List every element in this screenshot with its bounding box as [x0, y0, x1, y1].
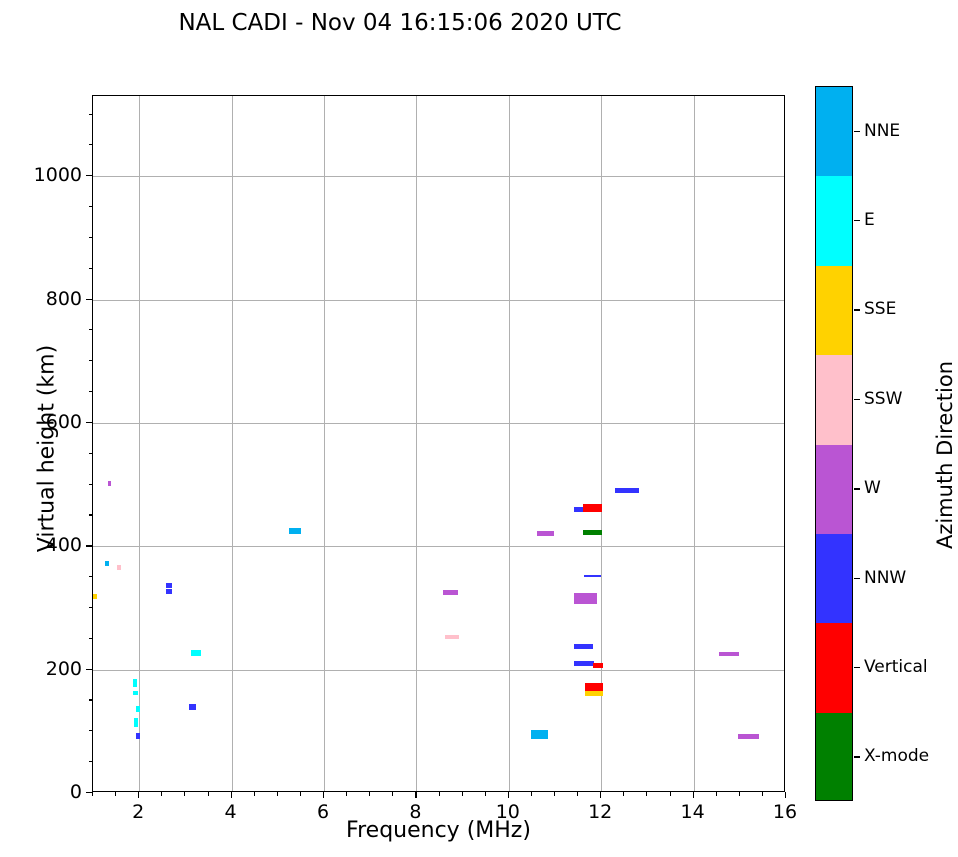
gridline-y-400: [93, 546, 784, 547]
data-marker: [136, 733, 140, 739]
y-tick: [86, 669, 92, 670]
plot-area: [92, 95, 785, 792]
colorbar-tick: [854, 488, 860, 489]
colorbar-title: Azimuth Direction: [933, 305, 957, 605]
colorbar-tick: [854, 220, 860, 221]
colorbar-segment-vertical: [816, 623, 852, 713]
y-tick: [89, 237, 93, 238]
x-tick: [300, 792, 301, 796]
y-tick: [89, 329, 93, 330]
colorbar-segment-nne: [816, 87, 852, 177]
y-tick: [86, 545, 92, 546]
data-marker: [445, 635, 459, 639]
gridline-x-2: [139, 96, 140, 791]
colorbar: [815, 86, 853, 801]
colorbar-tick: [854, 309, 860, 310]
data-marker: [615, 488, 639, 493]
x-tick: [115, 792, 116, 796]
x-tick: [508, 792, 509, 798]
data-marker: [584, 575, 602, 577]
x-tick: [600, 792, 601, 798]
data-marker: [443, 590, 458, 595]
y-tick: [89, 607, 93, 608]
y-tick: [89, 730, 93, 731]
data-marker: [136, 706, 140, 712]
y-tick: [89, 761, 93, 762]
x-tick: [415, 792, 416, 798]
data-marker: [191, 650, 200, 656]
colorbar-tick: [854, 756, 860, 757]
x-tick: [670, 792, 671, 796]
x-tick: [762, 792, 763, 796]
data-marker: [189, 704, 195, 710]
data-marker: [738, 734, 759, 739]
y-tick: [89, 360, 93, 361]
data-marker: [166, 583, 173, 588]
data-marker: [574, 661, 594, 666]
x-tick: [716, 792, 717, 796]
colorbar-segment-e: [816, 176, 852, 266]
data-marker: [719, 652, 739, 656]
y-tick: [86, 792, 92, 793]
data-marker: [583, 504, 602, 512]
data-marker: [289, 528, 301, 534]
colorbar-label-x-mode: X-mode: [864, 746, 929, 766]
data-marker: [531, 730, 549, 739]
data-marker: [583, 530, 602, 535]
y-tick: [89, 391, 93, 392]
data-marker: [133, 679, 138, 687]
data-marker: [574, 644, 592, 649]
colorbar-label-ssw: SSW: [864, 389, 902, 409]
colorbar-tick: [854, 667, 860, 668]
colorbar-segment-ssw: [816, 355, 852, 445]
y-axis-label: Virtual height (km): [35, 299, 60, 599]
colorbar-tick: [854, 131, 860, 132]
x-tick: [392, 792, 393, 796]
gridline-x-10: [509, 96, 510, 791]
x-tick: [231, 792, 232, 798]
colorbar-label-w: W: [864, 478, 881, 498]
y-tick: [86, 299, 92, 300]
x-tick: [462, 792, 463, 796]
y-tick: [89, 453, 93, 454]
y-tick: [89, 144, 93, 145]
gridline-x-14: [694, 96, 695, 791]
y-tick: [86, 422, 92, 423]
colorbar-segment-w: [816, 445, 852, 535]
colorbar-segment-sse: [816, 266, 852, 356]
plot-clip-region: [93, 96, 784, 791]
colorbar-label-nnw: NNW: [864, 568, 906, 588]
x-tick: [485, 792, 486, 796]
gridline-y-200: [93, 670, 784, 671]
x-tick: [208, 792, 209, 796]
figure-canvas: NAL CADI - Nov 04 16:15:06 2020 UTC 2468…: [0, 0, 958, 857]
y-tick: [89, 576, 93, 577]
x-tick: [161, 792, 162, 796]
data-marker: [585, 691, 603, 696]
y-tick-label: 200: [0, 658, 82, 680]
x-tick: [646, 792, 647, 796]
data-marker: [133, 691, 139, 695]
data-marker: [105, 561, 109, 566]
y-tick: [89, 114, 93, 115]
colorbar-label-vertical: Vertical: [864, 657, 928, 677]
x-tick: [531, 792, 532, 796]
x-tick: [254, 792, 255, 796]
y-tick: [89, 638, 93, 639]
x-tick: [323, 792, 324, 798]
x-tick: [577, 792, 578, 796]
x-axis-label: Frequency (MHz): [92, 818, 785, 843]
data-marker: [574, 593, 596, 604]
gridline-x-8: [416, 96, 417, 791]
x-tick: [92, 792, 93, 796]
y-tick: [89, 514, 93, 515]
gridline-x-6: [324, 96, 325, 791]
x-tick: [138, 792, 139, 798]
y-tick: [89, 206, 93, 207]
y-tick-label: 1000: [0, 164, 82, 186]
data-marker: [134, 718, 139, 727]
y-tick: [89, 484, 93, 485]
gridline-y-1000: [93, 176, 784, 177]
x-tick: [739, 792, 740, 796]
x-tick: [623, 792, 624, 796]
data-marker: [93, 594, 97, 599]
colorbar-label-e: E: [864, 210, 875, 230]
data-marker: [593, 663, 602, 668]
x-tick: [369, 792, 370, 796]
chart-title: NAL CADI - Nov 04 16:15:06 2020 UTC: [0, 10, 800, 36]
y-tick-label: 0: [0, 781, 82, 803]
gridline-y-800: [93, 300, 784, 301]
data-marker: [537, 531, 554, 536]
x-tick: [277, 792, 278, 796]
x-tick: [554, 792, 555, 796]
data-marker: [166, 589, 173, 594]
colorbar-label-sse: SSE: [864, 299, 896, 319]
colorbar-tick: [854, 399, 860, 400]
x-tick: [439, 792, 440, 796]
gridline-x-4: [232, 96, 233, 791]
colorbar-tick: [854, 578, 860, 579]
y-tick: [86, 175, 92, 176]
x-tick: [693, 792, 694, 798]
y-tick: [89, 268, 93, 269]
colorbar-segment-x-mode: [816, 713, 852, 801]
data-marker: [108, 481, 112, 486]
x-tick: [785, 792, 786, 798]
gridline-y-600: [93, 423, 784, 424]
x-tick: [184, 792, 185, 796]
colorbar-label-nne: NNE: [864, 121, 900, 141]
colorbar-segment-nnw: [816, 534, 852, 624]
x-tick: [346, 792, 347, 796]
y-tick: [89, 699, 93, 700]
data-marker: [117, 565, 121, 570]
